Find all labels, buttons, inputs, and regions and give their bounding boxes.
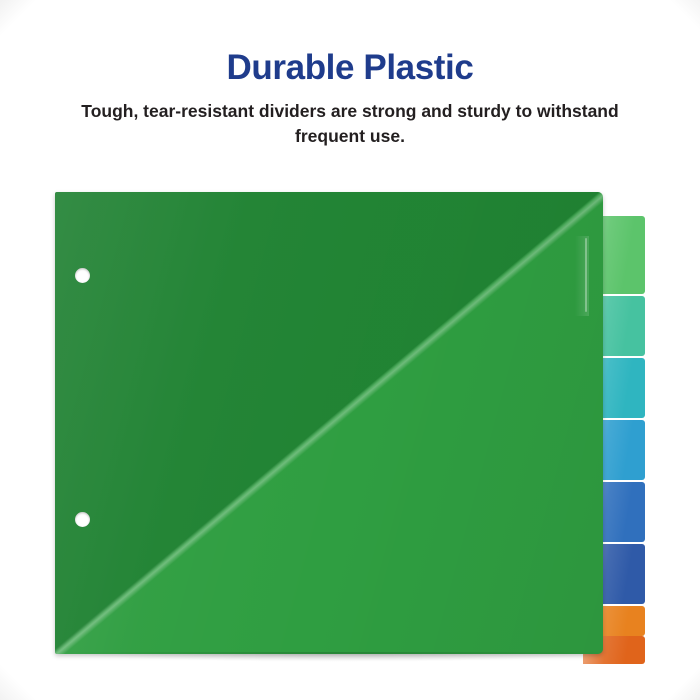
- drop-shadow: [59, 652, 619, 662]
- punch-hole-bottom: [75, 512, 90, 527]
- pocket-opening-seam: [585, 238, 587, 312]
- green-plastic-divider-pocket: [55, 192, 603, 654]
- punch-hole-top: [75, 268, 90, 283]
- pocket-diagonal-edge: [55, 192, 603, 654]
- product-photo: [55, 178, 645, 668]
- page-subtitle: Tough, tear-resistant dividers are stron…: [50, 99, 650, 149]
- product-marketing-image: Durable Plastic Tough, tear-resistant di…: [0, 0, 700, 700]
- page-title: Durable Plastic: [0, 48, 700, 88]
